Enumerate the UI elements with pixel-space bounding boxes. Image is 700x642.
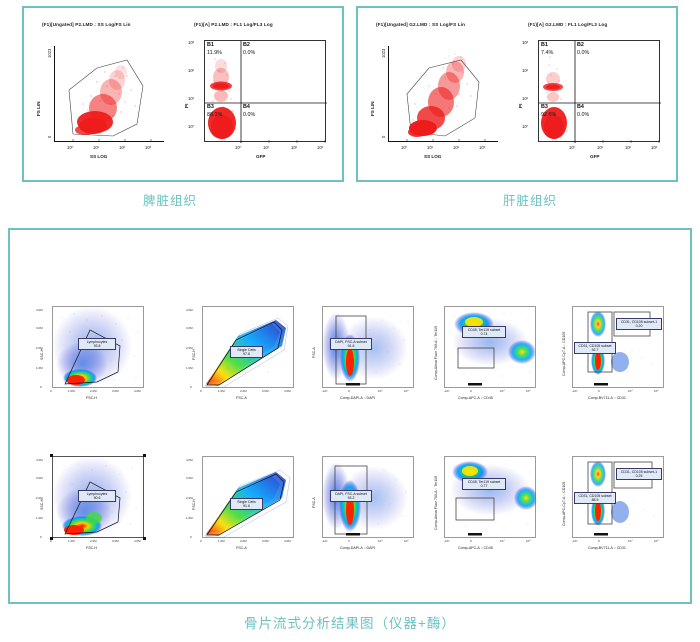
xtick-spleen-gfp-3: 10³ <box>317 145 323 150</box>
ytick-r1-p1-2: 2.0M <box>36 346 43 350</box>
xtick-r2-p3-2: 10⁴ <box>378 539 383 543</box>
panel-bone-flow-analysis: Lymphocytes 93.8 SSC-H FSC-H 0 1.0M 2.0M… <box>8 228 692 604</box>
xtick-r2-p2-3: 3.0M <box>262 539 269 543</box>
caption-spleen: 脾脏组织 <box>110 190 230 209</box>
gate-label-value: 88.9 <box>592 498 599 502</box>
ytick-r2-p1-4: 4.0M <box>36 458 43 462</box>
ytick-spleen-ssc-0: 0 <box>47 136 52 138</box>
xtick-r2-p5-3: 10⁵ <box>654 539 659 543</box>
xtick-r2-p3-0: -10³ <box>322 539 327 543</box>
plot-bone-r2-p1[interactable]: Lymphocytes 90.6 <box>52 456 144 538</box>
ytick-r2-p2-3: 3.0M <box>186 476 193 480</box>
gate-label-value: 91.6 <box>348 344 355 348</box>
quad-b1-value: 11.9% <box>207 50 222 56</box>
xtick-r2-p5-2: 10⁴ <box>628 539 633 543</box>
plot-bone-r1-p2: Single Cells 97.6 <box>202 306 294 388</box>
axis-x-r1-p3: Comp-DAPI-A :: DAPI <box>340 396 375 400</box>
axis-x-r2-p3: Comp-DAPI-A :: DAPI <box>340 546 375 550</box>
plot-spleen-ssc-fsc <box>54 46 164 142</box>
axis-x-r1-p1: FSC-H <box>86 396 97 400</box>
xtick-r1-p3-2: 10⁴ <box>378 389 383 393</box>
plot-bone-r2-p2: Single Cells 91.6 <box>202 456 294 538</box>
plot-bone-r1-p5: CD31, CD105 subset-1 0.20 CD31, CD105 su… <box>572 306 664 388</box>
ytick-r1-p2-4: 4.0M <box>186 308 193 312</box>
xtick-r1-p3-0: -10³ <box>322 389 327 393</box>
xtick-r2-p4-0: -10³ <box>444 539 449 543</box>
quad-liver-b4-name: B4 <box>577 104 584 110</box>
xtick-liver-ssc-2: 10² <box>453 145 459 150</box>
xtick-liver-gfp-1: 10¹ <box>597 145 603 150</box>
ytick-r1-p2-3: 3.0M <box>186 326 193 330</box>
xtick-r2-p2-4: 4.0M <box>284 539 291 543</box>
axis-x-r1-p4: Comp-APC-A :: CD45 <box>458 396 493 400</box>
quad-liver-b2-value: 0.0% <box>577 50 589 56</box>
plot-bone-r1-p3: DAPI, FSC-A subset 91.6 <box>322 306 414 388</box>
axis-x-spleen-gfp: GFP <box>256 154 265 159</box>
selection-handle-tl[interactable] <box>50 454 53 457</box>
axis-x-r2-p5: Comp-BV711-A :: CD31 <box>588 546 626 550</box>
gate-dapi-fsca-r2: DAPI, FSC-A subset 93.2 <box>330 490 372 502</box>
ytick-spleen-gfp-1: 10¹ <box>188 96 194 101</box>
axis-y-r2-p5: Comp-APC-Cy7-A :: CD105 <box>562 482 566 526</box>
xtick-r2-p1-2: 2.0M <box>90 539 97 543</box>
xtick-r1-p5-0: -10³ <box>572 389 577 393</box>
gate-label-value: 0.77 <box>481 484 488 488</box>
xtick-r2-p4-1: 0 <box>470 539 472 543</box>
gate-label-value: 93.2 <box>348 496 355 500</box>
plot-title-spleen-ssc: (F1)[Ungated] P2.LMD : SS Log/FS Lin <box>42 22 131 27</box>
ytick-r1-p1-4: 4.0M <box>36 308 43 312</box>
quad-b4-name: B4 <box>243 104 250 110</box>
xtick-r1-p4-1: 0 <box>470 389 472 393</box>
xtick-r2-p5-1: 0 <box>598 539 600 543</box>
gate-lymphocytes-r2: Lymphocytes 90.6 <box>78 490 116 502</box>
plot-liver-ssc-fsc <box>388 46 498 142</box>
gate-dapi-fsca-r1: DAPI, FSC-A subset 91.6 <box>330 338 372 350</box>
axis-x-liver-ssc: SS LOG <box>424 154 441 159</box>
xtick-r1-p1-3: 3.0M <box>112 389 119 393</box>
gate-label-value: 93.8 <box>94 344 101 348</box>
xtick-r1-p5-2: 10⁴ <box>628 389 633 393</box>
axis-x-liver-gfp: GFP <box>590 154 599 159</box>
quad-b2-value: 0.0% <box>243 50 255 56</box>
xtick-r2-p2-2: 2.0M <box>240 539 247 543</box>
ytick-r1-p1-3: 3.0M <box>36 326 43 330</box>
xtick-r2-p4-2: 10⁴ <box>500 539 505 543</box>
axis-y-r1-p2: FSC-H <box>192 349 196 360</box>
xtick-r2-p4-3: 10⁵ <box>526 539 531 543</box>
ytick-r1-p2-2: 2.0M <box>186 346 193 350</box>
xtick-r2-p1-0: 0 <box>50 539 52 543</box>
axis-y-r2-p1: SSC-H <box>40 499 44 510</box>
axis-y-r1-p5: Comp-APC-Cy7-A :: CD105 <box>562 332 566 376</box>
gate-cd31-cd105-subset1-r1: CD31, CD105 subset-1 0.20 <box>616 318 662 330</box>
plot-bone-r2-p4: CD45, Ter119 subset 0.77 <box>444 456 536 538</box>
gate-single-cells-r2: Single Cells 91.6 <box>230 498 263 510</box>
ytick-spleen-ssc-1023: 1023 <box>47 49 52 58</box>
axis-x-r2-p2: FSC-A <box>236 546 247 550</box>
ytick-spleen-gfp-2: 10² <box>188 68 194 73</box>
xtick-liver-ssc-1: 10¹ <box>427 145 433 150</box>
axis-y-spleen-gfp: PI <box>184 104 189 108</box>
caption-liver: 肝脏组织 <box>470 190 590 209</box>
selection-handle-br[interactable] <box>143 537 146 540</box>
gate-cd45-ter119-r1: CD45, Ter119 subset 0.74 <box>462 326 506 338</box>
ytick-liver-ssc-1023: 1023 <box>381 49 386 58</box>
ytick-r2-p1-0: 0 <box>40 535 42 539</box>
xtick-liver-gfp-3: 10³ <box>651 145 657 150</box>
axis-y-r1-p3: FSC-A <box>312 347 316 358</box>
ytick-r1-p2-1: 1.0M <box>186 366 193 370</box>
gate-cd31-cd105-subset-r1: CD31, CD105 subset 92.7 <box>574 342 616 354</box>
plot-title-spleen-gfp: (F1)[A] P2.LMD : FL1 Log/FL3 Log <box>194 22 273 27</box>
ytick-r2-p2-1: 1.0M <box>186 516 193 520</box>
xtick-r1-p4-2: 10⁴ <box>500 389 505 393</box>
xtick-r1-p2-1: 1.0M <box>218 389 225 393</box>
panel-spleen: (F1)[Ungated] P2.LMD : SS Log/FS Lin FS … <box>22 6 344 182</box>
quad-liver-b1-name: B1 <box>541 42 548 48</box>
xtick-r1-p2-2: 2.0M <box>240 389 247 393</box>
xtick-spleen-ssc-0: 10⁰ <box>67 145 73 150</box>
ytick-r2-p1-1: 1.0M <box>36 516 43 520</box>
xtick-liver-ssc-0: 10⁰ <box>401 145 407 150</box>
ytick-r1-p1-0: 0 <box>40 385 42 389</box>
gate-cd31-cd105-subset1-r2: CD31, CD105 subset-1 0.25 <box>616 468 662 480</box>
axis-y-spleen-ssc: FS LIN <box>36 101 41 116</box>
xtick-r2-p1-4: 4.0M <box>134 539 141 543</box>
plot-spleen-gfp-pi <box>204 40 326 142</box>
xtick-r1-p3-1: 0 <box>348 389 350 393</box>
xtick-r1-p1-2: 2.0M <box>90 389 97 393</box>
xtick-spleen-ssc-1: 10¹ <box>93 145 99 150</box>
ytick-liver-gfp-0: 10⁰ <box>522 124 528 129</box>
xtick-r1-p2-3: 3.0M <box>262 389 269 393</box>
gate-lymphocytes-r1: Lymphocytes 93.8 <box>78 338 116 350</box>
axis-x-r1-p5: Comp-BV711-A :: CD31 <box>588 396 626 400</box>
xtick-liver-gfp-0: 10⁰ <box>569 145 575 150</box>
quad-b3-value: 88.1% <box>207 112 222 118</box>
plot-title-liver-gfp: (F1)[A] G2.LMD : FL1 Log/FL3 Log <box>528 22 607 27</box>
quad-liver-b3-name: B3 <box>541 104 548 110</box>
ytick-r1-p1-1: 1.0M <box>36 366 43 370</box>
xtick-r1-p3-3: 10⁵ <box>404 389 409 393</box>
xtick-r2-p3-3: 10⁵ <box>404 539 409 543</box>
gate-single-cells-r1: Single Cells 97.6 <box>230 346 263 358</box>
gate-label-value: 90.6 <box>94 496 101 500</box>
xtick-r2-p2-1: 1.0M <box>218 539 225 543</box>
axis-y-r1-p1: SSC-H <box>40 349 44 360</box>
xtick-r2-p2-0: 0 <box>200 539 202 543</box>
panel-liver: (F1)[Ungated] G2.LMD : SS Log/FS Lin FS … <box>356 6 678 182</box>
plot-bone-r2-p3: DAPI, FSC-A subset 93.2 <box>322 456 414 538</box>
plot-title-liver-ssc: (F1)[Ungated] G2.LMD : SS Log/FS Lin <box>376 22 465 27</box>
selection-handle-tr[interactable] <box>143 454 146 457</box>
xtick-r2-p1-1: 1.0M <box>68 539 75 543</box>
quad-b1-name: B1 <box>207 42 214 48</box>
xtick-r1-p2-4: 4.0M <box>284 389 291 393</box>
ytick-r2-p1-2: 2.0M <box>36 496 43 500</box>
ytick-liver-gfp-1: 10¹ <box>522 96 528 101</box>
axis-x-r1-p2: FSC-A <box>236 396 247 400</box>
plot-bone-r1-p1: Lymphocytes 93.8 <box>52 306 144 388</box>
quad-b4-value: 0.0% <box>243 112 255 118</box>
quad-b2-name: B2 <box>243 42 250 48</box>
ytick-liver-gfp-3: 10³ <box>522 40 528 45</box>
axis-y-r2-p4: Comp-Alexa Fluor 700-A :: Ter119 <box>434 476 438 530</box>
quad-liver-b2-name: B2 <box>577 42 584 48</box>
axis-y-r1-p4: Comp-Alexa Fluor 700-A :: Ter119 <box>434 326 438 380</box>
ytick-r2-p2-0: 0 <box>190 535 192 539</box>
quad-b3-name: B3 <box>207 104 214 110</box>
xtick-spleen-ssc-2: 10² <box>119 145 125 150</box>
plot-liver-gfp-pi <box>538 40 660 142</box>
gate-label-value: 91.6 <box>243 504 250 508</box>
quad-liver-b3-value: 92.6% <box>541 112 556 118</box>
xtick-spleen-gfp-2: 10² <box>291 145 297 150</box>
xtick-spleen-gfp-0: 10⁰ <box>235 145 241 150</box>
xtick-spleen-gfp-1: 10¹ <box>263 145 269 150</box>
xtick-r1-p1-4: 4.0M <box>134 389 141 393</box>
xtick-r1-p5-3: 10⁵ <box>654 389 659 393</box>
xtick-r1-p1-1: 1.0M <box>68 389 75 393</box>
axis-x-r2-p4: Comp-APC-A :: CD45 <box>458 546 493 550</box>
ytick-spleen-gfp-0: 10⁰ <box>188 124 194 129</box>
gate-cd45-ter119-r2: CD45, Ter119 subset 0.77 <box>462 478 506 490</box>
xtick-r2-p1-3: 3.0M <box>112 539 119 543</box>
axis-y-r2-p2: FSC-H <box>192 499 196 510</box>
xtick-r1-p5-1: 0 <box>598 389 600 393</box>
gate-label-value: 97.6 <box>243 352 250 356</box>
xtick-r1-p4-3: 10⁵ <box>526 389 531 393</box>
plot-bone-r2-p5: CD31, CD105 subset-1 0.25 CD31, CD105 su… <box>572 456 664 538</box>
axis-x-spleen-ssc: SS LOG <box>90 154 107 159</box>
ytick-r2-p2-4: 4.0M <box>186 458 193 462</box>
xtick-spleen-ssc-3: 10³ <box>145 145 151 150</box>
xtick-liver-gfp-2: 10² <box>625 145 631 150</box>
axis-x-r2-p1: FSC-H <box>86 546 97 550</box>
axis-y-liver-gfp: PI <box>518 104 523 108</box>
xtick-liver-ssc-3: 10³ <box>479 145 485 150</box>
xtick-r2-p5-0: -10³ <box>572 539 577 543</box>
gate-label-value: 0.20 <box>636 324 643 328</box>
ytick-r2-p2-2: 2.0M <box>186 496 193 500</box>
xtick-r1-p1-0: 0 <box>50 389 52 393</box>
gate-label-value: 0.25 <box>636 474 643 478</box>
xtick-r2-p3-1: 0 <box>348 539 350 543</box>
quad-liver-b1-value: 7.4% <box>541 50 553 56</box>
ytick-r1-p2-0: 0 <box>190 385 192 389</box>
ytick-liver-gfp-2: 10² <box>522 68 528 73</box>
ytick-liver-ssc-0: 0 <box>381 136 386 138</box>
caption-bone: 骨片流式分析结果图（仪器+酶） <box>200 612 500 632</box>
ytick-r2-p1-3: 3.0M <box>36 476 43 480</box>
ytick-spleen-gfp-3: 10³ <box>188 40 194 45</box>
gate-cd31-cd105-subset-r2: CD31, CD105 subset 88.9 <box>574 492 616 504</box>
quad-liver-b4-value: 0.0% <box>577 112 589 118</box>
gate-label-value: 0.74 <box>481 332 488 336</box>
axis-y-r2-p3: FSC-A <box>312 497 316 508</box>
xtick-r1-p2-0: 0 <box>200 389 202 393</box>
axis-y-liver-ssc: FS LIN <box>370 101 375 116</box>
gate-label-value: 92.7 <box>592 348 599 352</box>
plot-bone-r1-p4: CD45, Ter119 subset 0.74 <box>444 306 536 388</box>
xtick-r1-p4-0: -10³ <box>444 389 449 393</box>
